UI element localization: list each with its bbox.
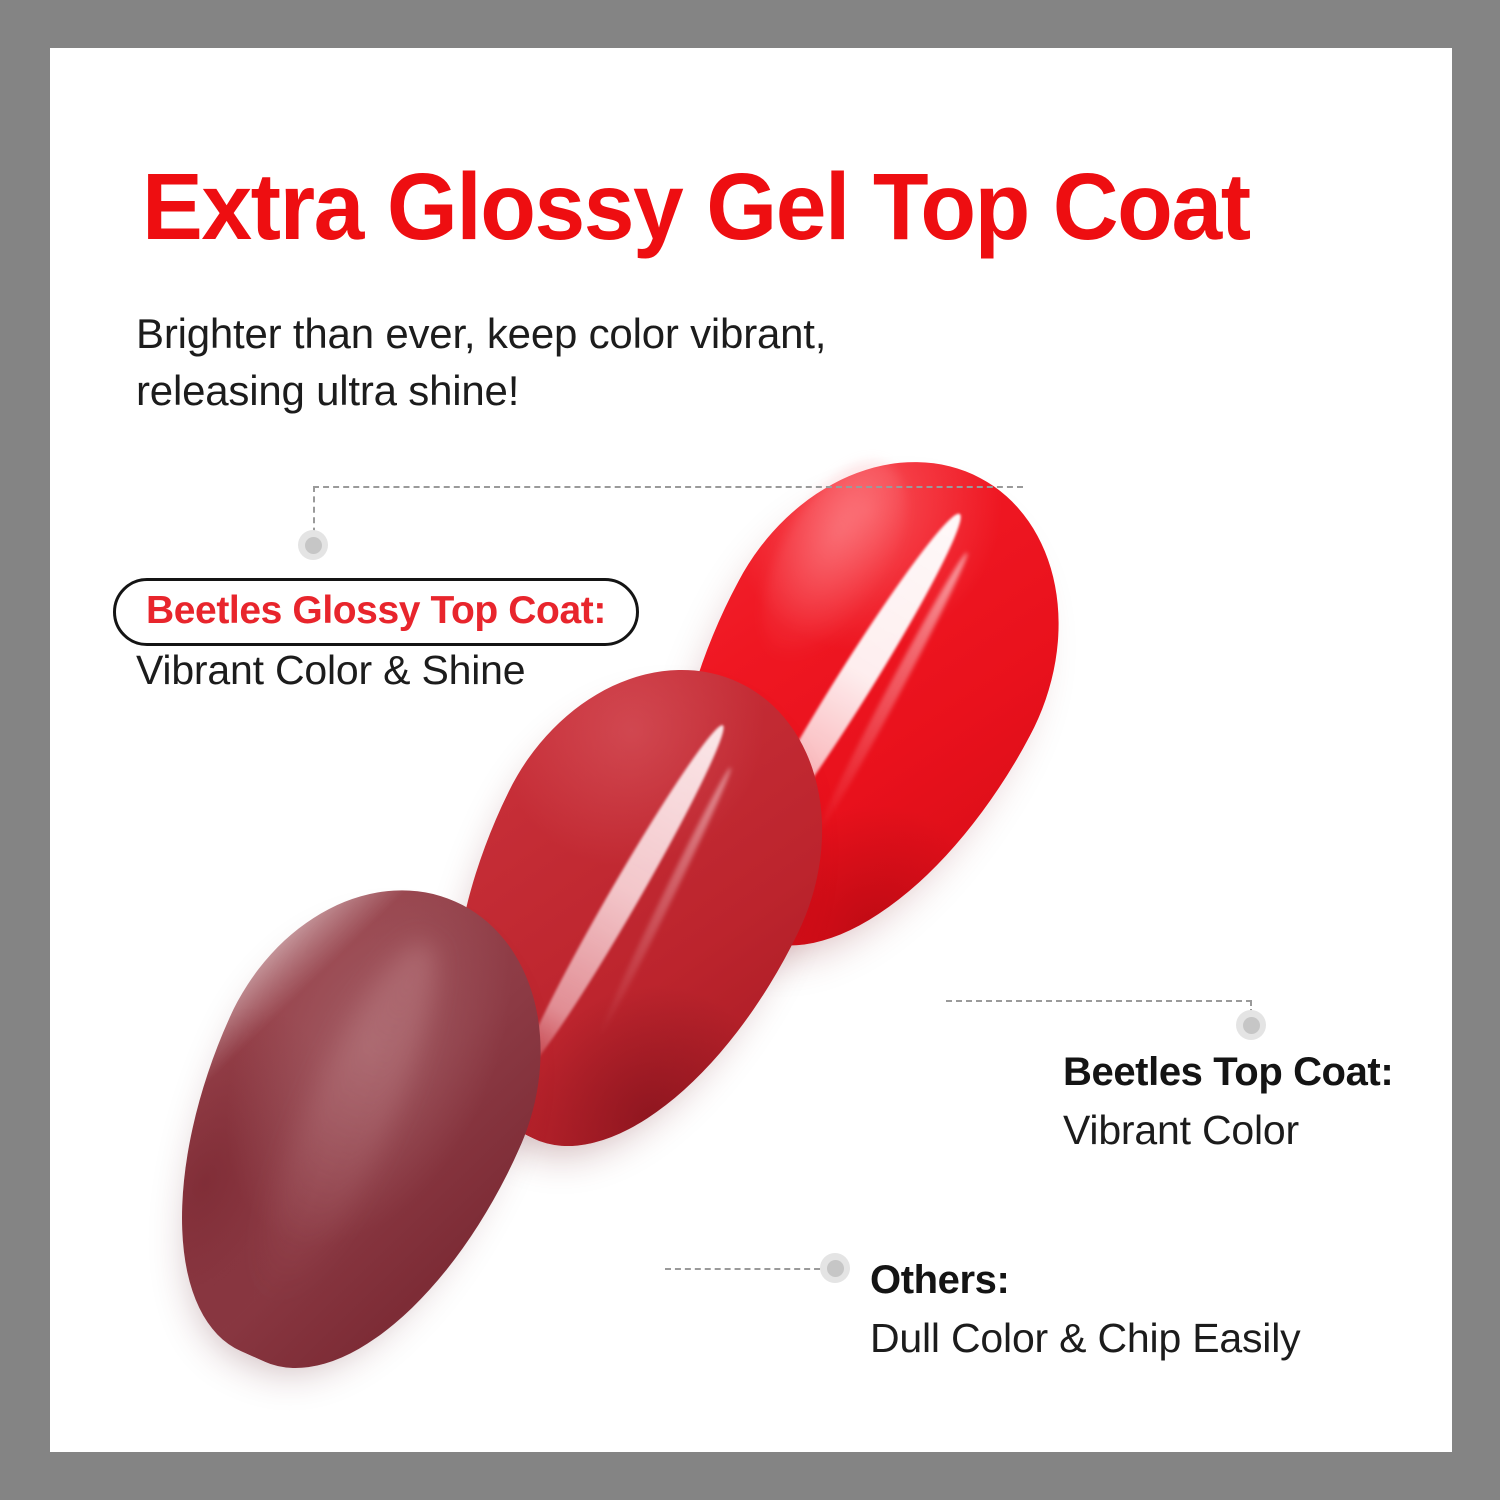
poster-frame: Extra Glossy Gel Top Coat Brighter than … [0,0,1500,1500]
callout-label-others: Others: [870,1258,1009,1302]
callout-label-standard: Beetles Top Coat: [1063,1050,1393,1094]
subtitle-line-2: releasing ultra shine! [136,363,1036,420]
callout-description-others: Dull Color & Chip Easily [870,1316,1300,1361]
page-subtitle: Brighter than ever, keep color vibrant, … [136,306,1036,419]
leader-line-others-horizontal [665,1268,830,1270]
leader-line-standard-horizontal [946,1000,1252,1002]
callout-label-glossy: Beetles Glossy Top Coat: [113,578,639,646]
poster-canvas: Extra Glossy Gel Top Coat Brighter than … [50,48,1452,1452]
marker-dot-glossy [298,530,328,560]
subtitle-line-1: Brighter than ever, keep color vibrant, [136,310,826,357]
marker-dot-others [820,1253,850,1283]
callout-description-standard: Vibrant Color [1063,1108,1299,1153]
callout-description-glossy: Vibrant Color & Shine [136,648,525,693]
page-title: Extra Glossy Gel Top Coat [142,160,1352,255]
marker-dot-standard [1236,1010,1266,1040]
callout-label-glossy-text: Beetles Glossy Top Coat: [146,591,606,630]
leader-line-glossy-horizontal [313,486,1023,488]
